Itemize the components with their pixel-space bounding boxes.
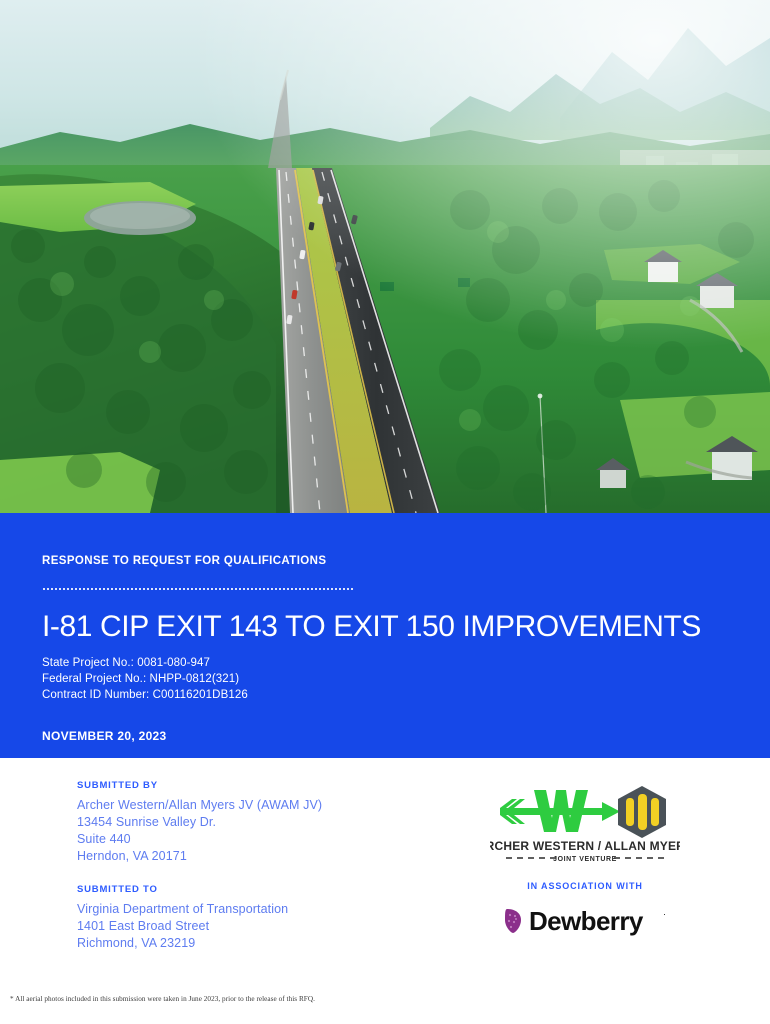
project-numbers: State Project No.: 0081-080-947 Federal … [42, 655, 770, 703]
submitted-to-heading: SUBMITTED TO [77, 884, 407, 895]
eyebrow-label: RESPONSE TO REQUEST FOR QUALIFICATIONS [42, 555, 770, 567]
submitted-by-heading: SUBMITTED BY [77, 780, 407, 791]
submitted-to-line: 1401 East Broad Street [77, 918, 407, 935]
logo-column: ARCHER WESTERN / ALLAN MYERS JOINT VENTU… [470, 778, 700, 937]
submitted-by-line: Herndon, VA 20171 [77, 848, 407, 865]
submitted-to-line: Richmond, VA 23219 [77, 935, 407, 952]
publication-date: NOVEMBER 20, 2023 [42, 729, 770, 743]
page-title: I-81 CIP EXIT 143 TO EXIT 150 IMPROVEMEN… [42, 611, 770, 643]
contract-id-number: Contract ID Number: C00116201DB126 [42, 687, 770, 703]
submitted-to-line: Virginia Department of Transportation [77, 901, 407, 918]
hero-aerial-photo [0, 0, 770, 513]
submitted-by-block: SUBMITTED BY Archer Western/Allan Myers … [77, 780, 407, 865]
submitted-to-block: SUBMITTED TO Virginia Department of Tran… [77, 884, 407, 952]
aerial-highway-illustration [0, 0, 770, 513]
archer-western-allan-myers-jv-logo: ARCHER WESTERN / ALLAN MYERS JOINT VENTU… [490, 778, 680, 864]
archer-western-arrow-w-icon [500, 790, 620, 832]
footer-section: SUBMITTED BY Archer Western/Allan Myers … [0, 758, 770, 1024]
jv-logo-tagline: JOINT VENTURE [553, 856, 617, 863]
association-label: IN ASSOCIATION WITH [470, 881, 700, 891]
submitted-by-line: Suite 440 [77, 831, 407, 848]
jv-logo-graphic: ARCHER WESTERN / ALLAN MYERS JOINT VENTU… [490, 778, 680, 864]
submitted-by-line: Archer Western/Allan Myers JV (AWAM JV) [77, 797, 407, 814]
dewberry-trademark: · [663, 909, 666, 919]
state-project-number: State Project No.: 0081-080-947 [42, 655, 770, 671]
federal-project-number: Federal Project No.: NHPP-0812(321) [42, 671, 770, 687]
aerial-photo-footnote: * All aerial photos included in this sub… [10, 995, 315, 1003]
dewberry-berry-icon [505, 909, 521, 933]
submission-details: SUBMITTED BY Archer Western/Allan Myers … [77, 780, 407, 952]
dewberry-logo-graphic: Dewberry · [499, 903, 671, 937]
submitted-by-line: 13454 Sunrise Valley Dr. [77, 814, 407, 831]
title-band: RESPONSE TO REQUEST FOR QUALIFICATIONS I… [0, 513, 770, 758]
dewberry-logo: Dewberry · [470, 903, 700, 937]
jv-logo-name: ARCHER WESTERN / ALLAN MYERS [490, 839, 680, 853]
allan-myers-hexagon-icon [618, 786, 666, 838]
dotted-divider [42, 588, 354, 590]
dewberry-wordmark: Dewberry [529, 906, 644, 936]
